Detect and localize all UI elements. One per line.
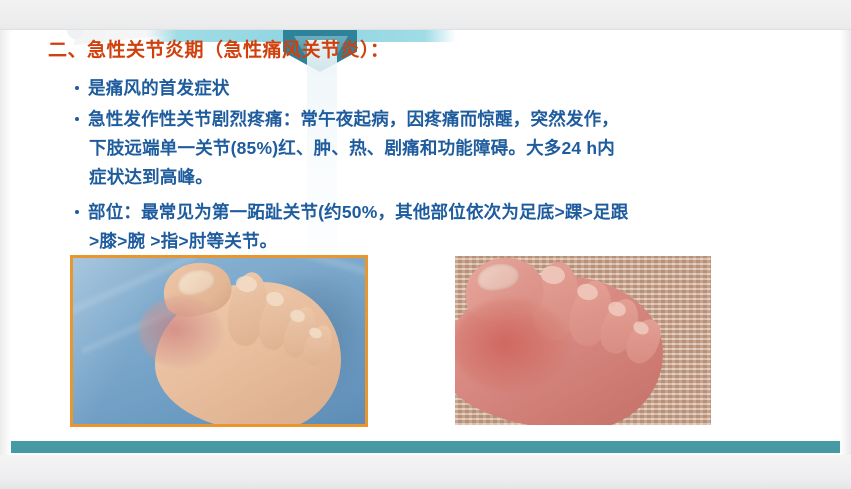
window-chrome-left xyxy=(0,30,11,455)
bullet-2-line-2: 下肢远端单一关节(85%)红、肿、热、剧痛和功能障碍。大多24 h内 xyxy=(89,134,834,163)
presentation-slide: 二、急性关节炎期（急性痛风关节炎）： 是痛风的首发症状 急性发作性关节剧烈疼痛：… xyxy=(0,0,851,489)
mtp-joint-swelling xyxy=(139,296,223,368)
bullet-item-2: 急性发作性关节剧烈疼痛：常午夜起病，因疼痛而惊醒，突然发作， 下肢远端单一关节(… xyxy=(74,105,834,192)
window-chrome-top xyxy=(0,0,851,30)
ribbon-fade-right xyxy=(443,30,563,42)
bullet-dot-icon xyxy=(75,86,79,90)
window-chrome-right xyxy=(840,30,851,455)
gout-foot-photo-right xyxy=(455,256,711,425)
window-chrome-bottom xyxy=(0,455,851,489)
bullet-list: 是痛风的首发症状 急性发作性关节剧烈疼痛：常午夜起病，因疼痛而惊醒，突然发作， … xyxy=(74,74,834,262)
photo-right-content xyxy=(455,256,711,425)
bullet-1-line-1: 是痛风的首发症状 xyxy=(88,78,230,98)
slide-canvas: 二、急性关节炎期（急性痛风关节炎）： 是痛风的首发症状 急性发作性关节剧烈疼痛：… xyxy=(11,30,840,455)
bullet-3-line-1: 部位：最常见为第一跖趾关节(约50%，其他部位依次为足底>踝>足跟 xyxy=(88,202,628,222)
bullet-3-line-2: >膝>腕 >指>肘等关节。 xyxy=(89,227,834,256)
photo-left-content xyxy=(73,258,365,424)
bullet-2-line-1: 急性发作性关节剧烈疼痛：常午夜起病，因疼痛而惊醒，突然发作， xyxy=(88,109,619,129)
bullet-dot-icon xyxy=(75,210,79,214)
accent-bar xyxy=(11,441,840,453)
bullet-item-1: 是痛风的首发症状 xyxy=(74,74,834,103)
gout-foot-photo-left xyxy=(70,255,368,427)
slide-title: 二、急性关节炎期（急性痛风关节炎）： xyxy=(48,35,390,62)
bullet-dot-icon xyxy=(75,117,79,121)
mtp-joint-inflammation xyxy=(455,298,569,392)
bullet-item-3: 部位：最常见为第一跖趾关节(约50%，其他部位依次为足底>踝>足跟 >膝>腕 >… xyxy=(74,198,834,256)
bullet-2-line-3: 症状达到高峰。 xyxy=(89,163,834,192)
